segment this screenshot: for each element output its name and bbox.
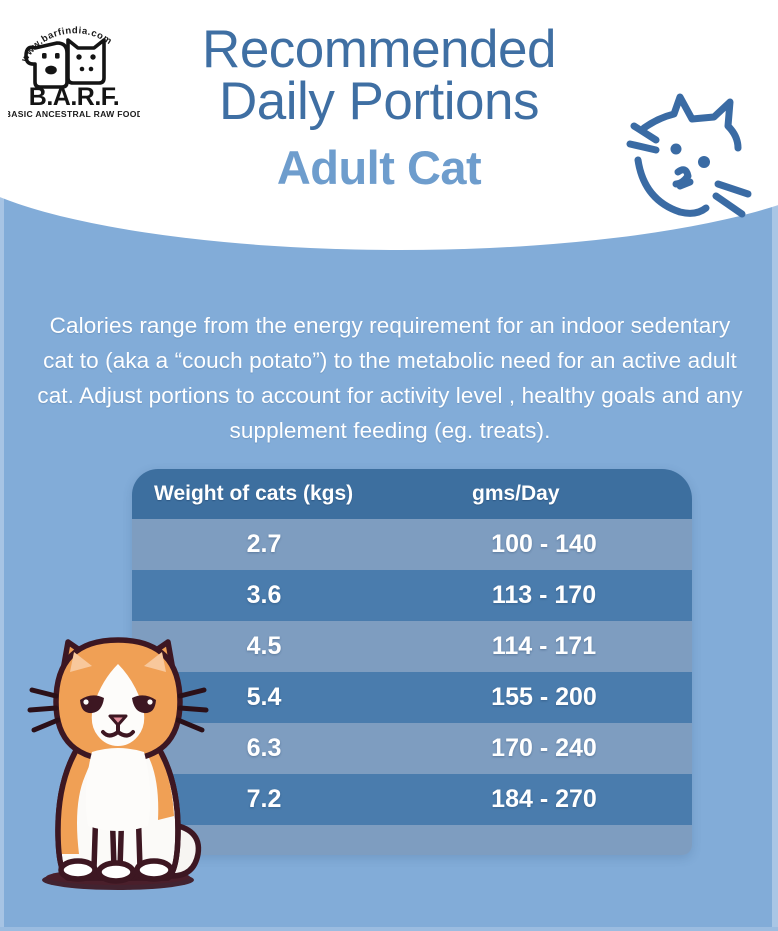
cell-weight: 3.6 — [132, 581, 424, 610]
table-header-row: Weight of cats (kgs) gms/Day — [132, 469, 692, 519]
page-title-group: Recommended Daily Portions Adult Cat — [140, 24, 618, 195]
page-title-line2: Daily Portions — [140, 76, 618, 128]
cell-portion: 114 - 171 — [424, 632, 692, 661]
bottom-border — [0, 927, 778, 931]
page-title-line1: Recommended — [202, 20, 556, 79]
cell-portion: 113 - 170 — [424, 581, 692, 610]
table-row: 3.6 113 - 170 — [132, 570, 692, 621]
cat-face-outline-icon — [608, 88, 768, 238]
column-header-portion: gms/Day — [424, 482, 692, 506]
sitting-orange-white-cat-icon — [18, 628, 218, 900]
cell-portion: 184 - 270 — [424, 785, 692, 814]
poster-canvas: www.barfindia.com — [0, 0, 778, 931]
svg-text:B.A.R.F.: B.A.R.F. — [29, 83, 119, 111]
cell-weight: 2.7 — [132, 530, 424, 559]
cell-portion: 100 - 140 — [424, 530, 692, 559]
page-title: Recommended Daily Portions — [140, 24, 618, 128]
column-header-weight: Weight of cats (kgs) — [132, 482, 424, 506]
cell-portion: 170 - 240 — [424, 734, 692, 763]
table-row: 2.7 100 - 140 — [132, 519, 692, 570]
svg-text:BASIC ANCESTRAL RAW FOOD: BASIC ANCESTRAL RAW FOOD — [8, 109, 140, 119]
page-subtitle: Adult Cat — [140, 140, 618, 195]
intro-paragraph: Calories range from the energy requireme… — [34, 308, 746, 448]
cell-portion: 155 - 200 — [424, 683, 692, 712]
barf-dog-cat-logo-icon: www.barfindia.com — [8, 8, 140, 120]
